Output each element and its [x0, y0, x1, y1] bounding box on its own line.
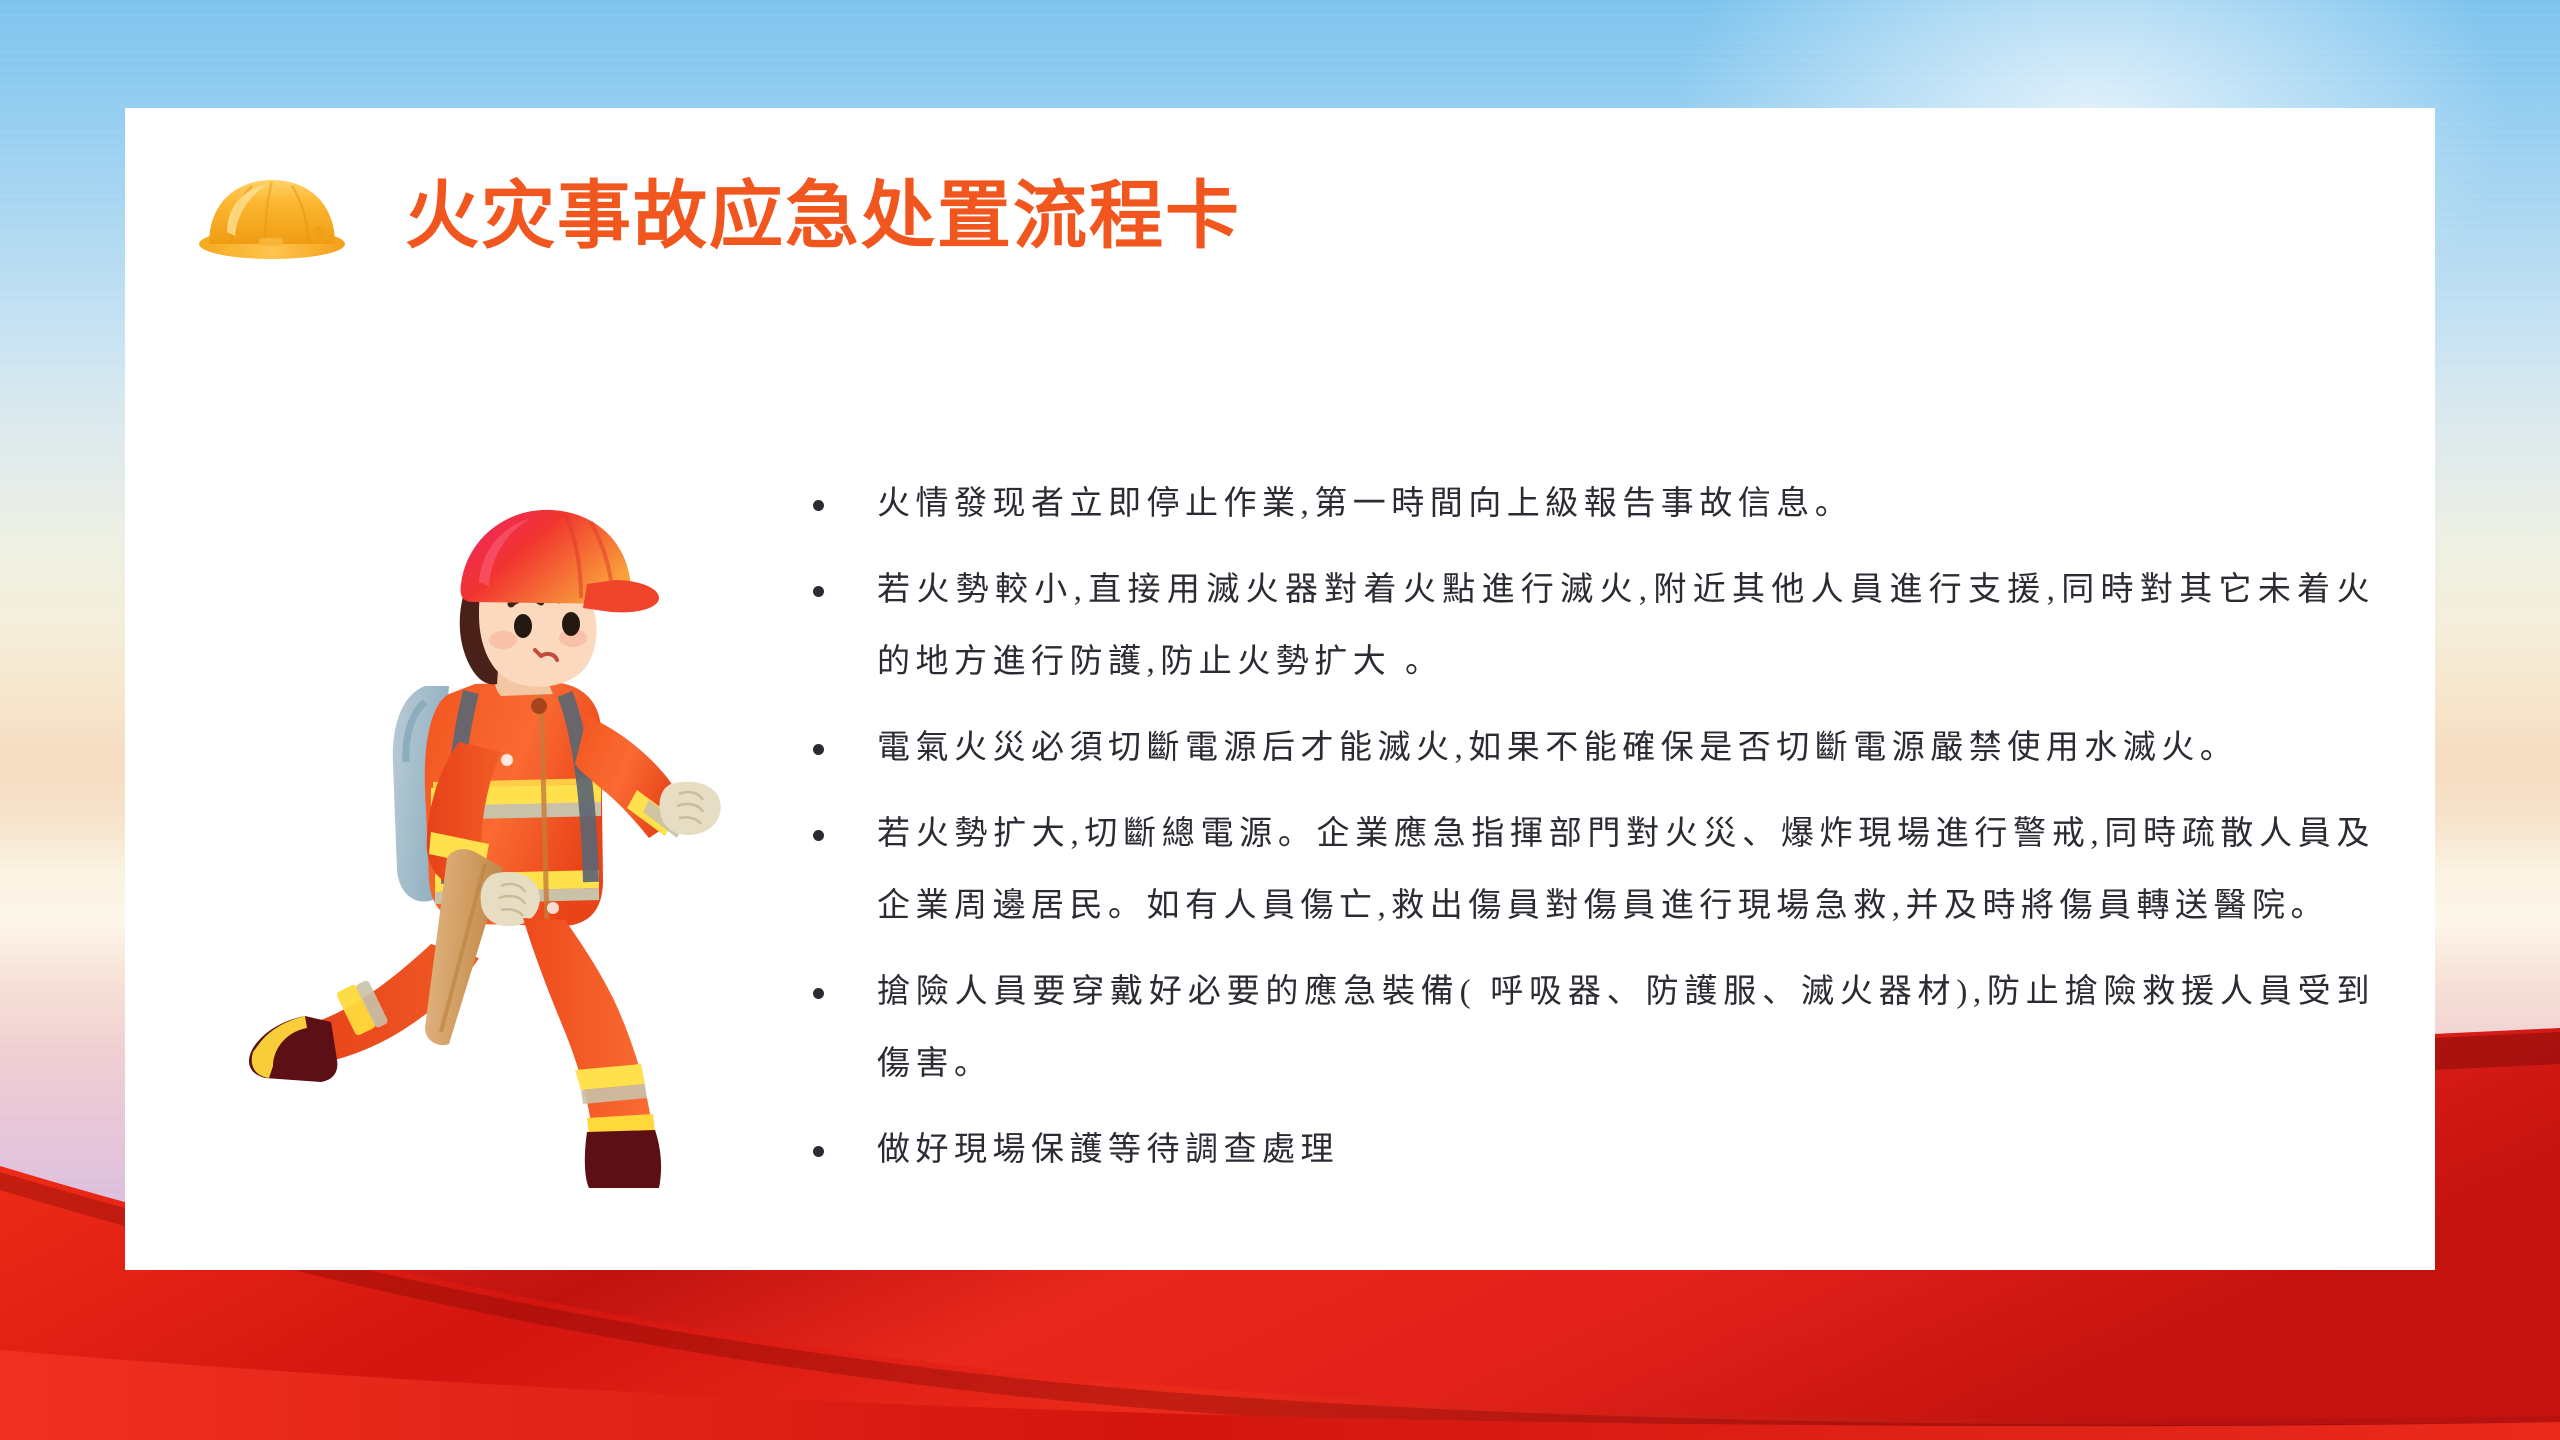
eye-right [562, 612, 580, 636]
hard-hat-icon [197, 170, 347, 262]
front-boot [585, 1130, 661, 1188]
bullet-item-3: 電氣火災必須切斷電源后才能滅火,如果不能確保是否切斷電源嚴禁使用水滅火。 [785, 712, 2375, 784]
procedure-bullet-list: 火情發现者立即停止作業,第一時間向上級報告事故信息。 若火勢較小,直接用滅火器對… [785, 468, 2375, 1186]
helmet-brim [583, 580, 659, 612]
right-hand [659, 782, 720, 835]
bullet-item-1: 火情發现者立即停止作業,第一時間向上級報告事故信息。 [785, 468, 2375, 540]
bullet-item-2: 若火勢較小,直接用滅火器對着火點進行滅火,附近其他人員進行支援,同時對其它未着火… [785, 554, 2375, 698]
running-firefighter-illustration [235, 488, 755, 1188]
left-hand [481, 872, 540, 926]
bullet-item-4: 若火勢扩大,切斷總電源。企業應急指揮部門對火災、爆炸現場進行警戒,同時疏散人員及… [785, 798, 2375, 942]
eye-left [514, 614, 532, 638]
content-card: 火灾事故应急处置流程卡 [125, 108, 2435, 1270]
title-row: 火灾事故应急处置流程卡 [197, 170, 1241, 262]
page-title: 火灾事故应急处置流程卡 [405, 179, 1241, 253]
slide-canvas: 火灾事故应急处置流程卡 [0, 0, 2560, 1440]
bullet-item-5: 搶險人員要穿戴好必要的應急裝備( 呼吸器、防護服、滅火器材),防止搶險救援人員受… [785, 956, 2375, 1100]
bullet-item-6: 做好現場保護等待調查處理 [785, 1114, 2375, 1186]
